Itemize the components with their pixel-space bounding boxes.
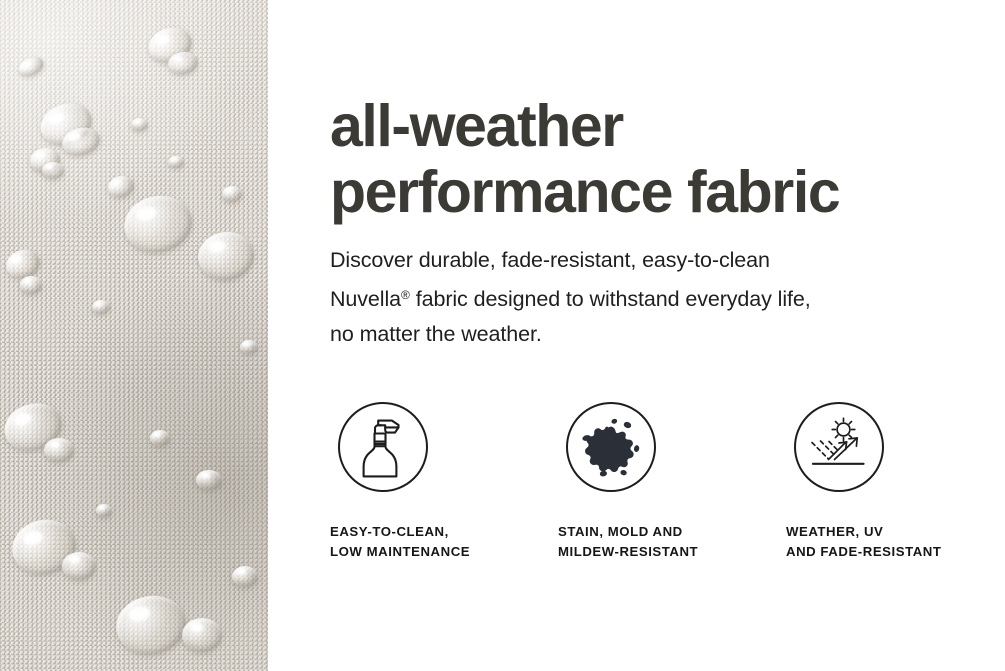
feature-weather-uv-resistant: WEATHER, UV AND FADE-RESISTANT [786,402,990,562]
water-bead [168,156,184,168]
body-copy: Discover durable, fade-resistant, easy-t… [330,243,970,352]
fabric-photo [0,0,268,671]
feature-stain-resistant: STAIN, MOLD AND MILDEW-RESISTANT [558,402,786,562]
brand-name: Nuvella [330,287,401,311]
content-area: all-weather performance fabric Discover … [330,0,990,671]
feature-caption: STAIN, MOLD AND MILDEW-RESISTANT [558,522,786,562]
page-title: all-weather performance fabric [330,93,990,225]
water-bead [62,552,96,580]
body-line-2: fabric designed to withstand everyday li… [410,287,811,311]
body-line-3: no matter the weather. [330,322,542,346]
feature-easy-to-clean: EASY-TO-CLEAN, LOW MAINTENANCE [330,402,558,562]
water-bead [150,430,170,446]
all-weather-fabric-banner: all-weather performance fabric Discover … [0,0,1005,671]
feature-caption: EASY-TO-CLEAN, LOW MAINTENANCE [330,522,558,562]
water-bead [92,300,110,314]
spray-bottle-icon [338,402,428,492]
water-bead [42,162,64,179]
water-bead [222,186,242,202]
water-bead [20,276,42,294]
water-bead [232,566,258,587]
stain-splat-icon [566,402,656,492]
registered-trademark-icon: ® [401,288,410,302]
water-bead [96,504,112,517]
water-bead [182,618,222,652]
water-bead [44,438,74,462]
sun-uv-reflect-icon [794,402,884,492]
water-bead [240,340,258,354]
feature-caption: WEATHER, UV AND FADE-RESISTANT [786,522,990,562]
feature-list: EASY-TO-CLEAN, LOW MAINTENANCE STAIN, M [330,402,990,562]
water-bead [196,470,222,490]
water-bead [131,118,148,131]
body-line-1: Discover durable, fade-resistant, easy-t… [330,248,770,272]
